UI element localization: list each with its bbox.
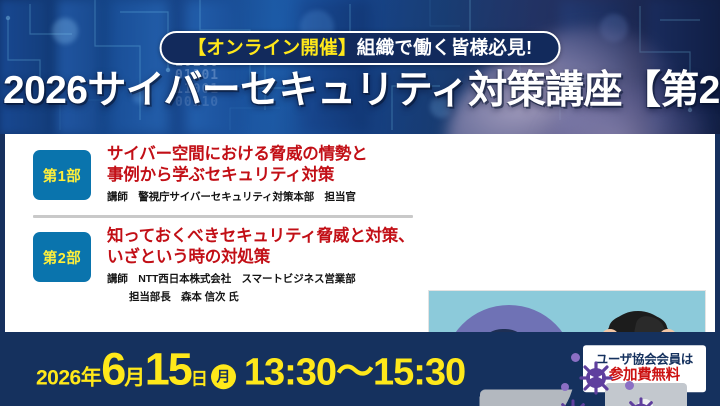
badge-highlight-text: 【オンライン開催】 <box>188 39 357 58</box>
session-badge: 第2部 <box>33 232 91 282</box>
event-day: 15 <box>145 346 191 391</box>
session-title-line1: 知っておくべきセキュリティ脅威と対策、 <box>107 226 413 247</box>
session-item-1: 第1部 サイバー空間における脅威の情勢と 事例から学ぶセキュリティ対策 講師 警… <box>33 144 413 206</box>
event-time: 13:30〜15:30 <box>244 353 465 391</box>
event-year: 2026年 <box>36 361 101 391</box>
bokeh-dot <box>52 18 78 44</box>
banner-header: 10100011011100100110 【オンライン開催】組織で働く皆様必見!… <box>0 0 720 134</box>
section-divider <box>33 215 413 218</box>
event-day-of-week: 月 <box>211 364 236 389</box>
online-event-badge: 【オンライン開催】組織で働く皆様必見! <box>160 31 561 65</box>
virus-dot <box>625 381 634 390</box>
badge-text: 組織で働く皆様必見! <box>357 39 533 58</box>
event-month: 6 <box>101 346 124 391</box>
session-lecturer-line1: 講師 NTT西日本株式会社 スマートビジネス営業部 <box>107 272 413 287</box>
seminar-banner: 10100011011100100110 【オンライン開催】組織で働く皆様必見!… <box>0 0 720 406</box>
session-title-line1: サイバー空間における脅威の情勢と <box>107 144 413 165</box>
virus-icon <box>579 361 613 395</box>
session-item-2: 第2部 知っておくべきセキュリティ脅威と対策、 いざという時の対処策 講師 NT… <box>33 226 413 305</box>
page-title: 2026サイバーセキュリティ対策講座【第2弾】 <box>3 71 717 110</box>
event-day-unit: 日 <box>191 364 208 389</box>
virus-icon <box>625 397 657 406</box>
virus-dot <box>571 353 580 362</box>
content-panel: 第1部 サイバー空間における脅威の情勢と 事例から学ぶセキュリティ対策 講師 警… <box>5 134 715 332</box>
session-lecturer-line1: 講師 警視庁サイバーセキュリティ対策本部 担当官 <box>107 190 413 205</box>
event-datetime: 2026年 6 月 15 日 月 13:30〜15:30 <box>36 346 465 392</box>
session-title-line2: いざという時の対処策 <box>107 247 413 268</box>
session-body: サイバー空間における脅威の情勢と 事例から学ぶセキュリティ対策 講師 警視庁サイ… <box>107 144 413 204</box>
session-list: 第1部 サイバー空間における脅威の情勢と 事例から学ぶセキュリティ対策 講師 警… <box>33 144 413 305</box>
virus-icon <box>557 399 589 406</box>
session-lecturer-line2: 担当部長 森本 信次 氏 <box>107 290 413 305</box>
virus-dot <box>561 383 569 391</box>
session-badge: 第1部 <box>33 150 91 200</box>
session-title-line2: 事例から学ぶセキュリティ対策 <box>107 165 413 186</box>
event-month-unit: 月 <box>124 361 145 391</box>
session-body: 知っておくべきセキュリティ脅威と対策、 いざという時の対処策 講師 NTT西日本… <box>107 226 413 305</box>
